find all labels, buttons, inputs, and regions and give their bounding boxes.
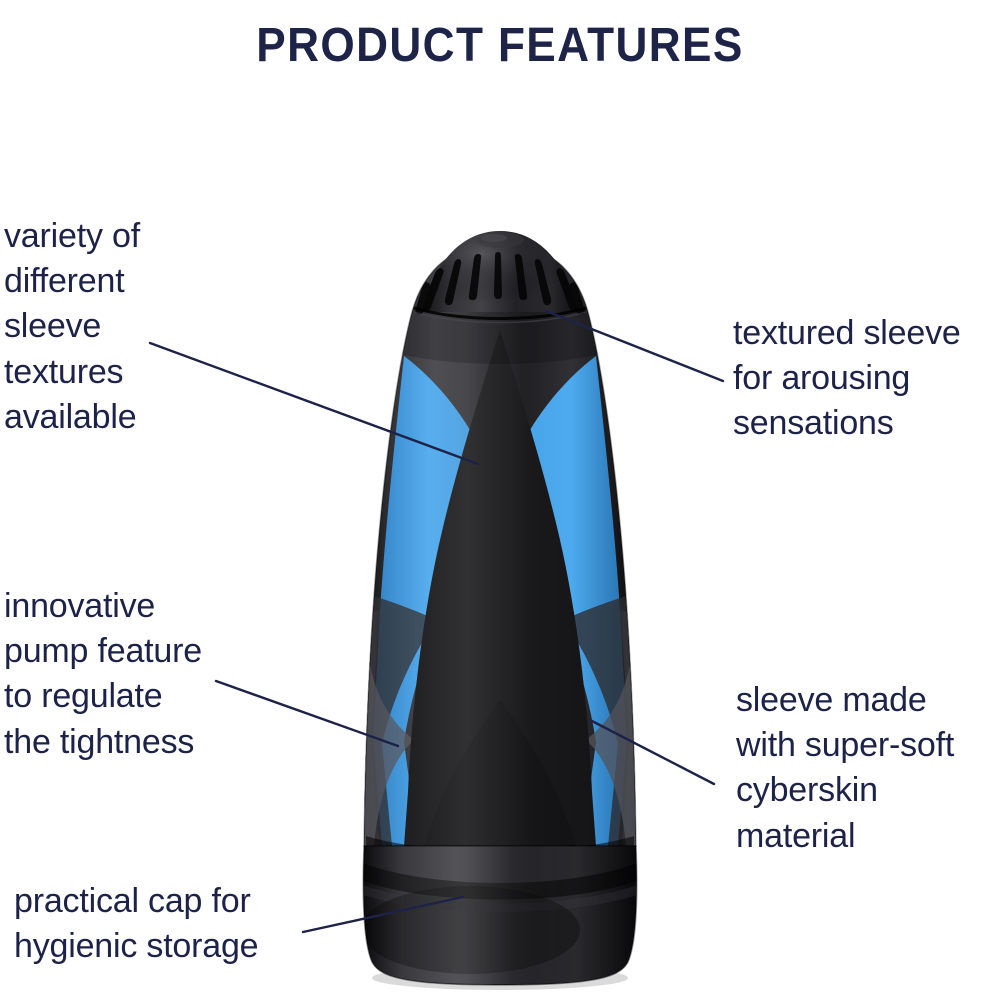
callout-variety-of-textures: variety of different sleeve textures ava… — [4, 214, 244, 440]
callout-cyberskin-material: sleeve made with super-soft cyberskin ma… — [736, 678, 1000, 859]
sleeve-body — [359, 243, 641, 853]
product-features-diagram: PRODUCT FEATURES — [0, 0, 1000, 1000]
callout-practical-cap: practical cap for hygienic storage — [14, 879, 334, 969]
callout-innovative-pump: innovative pump feature to regulate the … — [4, 584, 264, 765]
callout-textured-sleeve: textured sleeve for arousing sensations — [733, 311, 1000, 447]
pump-base — [360, 846, 640, 986]
dome-cap — [415, 231, 584, 314]
